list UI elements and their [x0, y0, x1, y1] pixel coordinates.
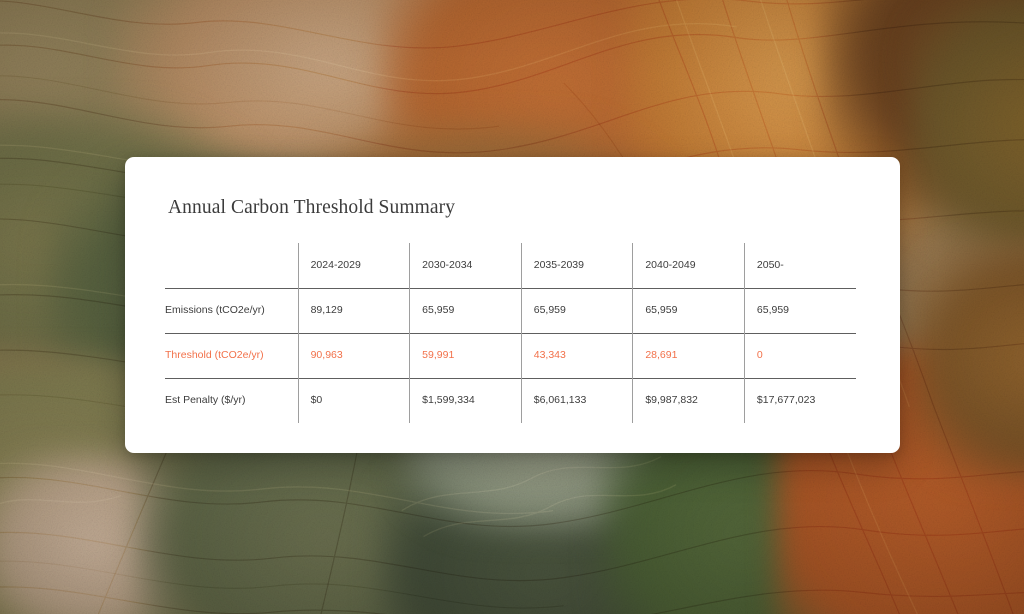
- summary-card: Annual Carbon Threshold Summary 2024-202…: [125, 157, 900, 453]
- cell-emissions-1: 89,129: [298, 288, 410, 333]
- table-row-threshold: Threshold (tCO2e/yr) 90,963 59,991 43,34…: [165, 333, 856, 378]
- table-header-row: 2024-2029 2030-2034 2035-2039 2040-2049 …: [165, 243, 856, 288]
- cell-penalty-3: $6,061,133: [521, 378, 633, 423]
- table-corner-cell: [165, 243, 298, 288]
- cell-emissions-5: 65,959: [744, 288, 856, 333]
- row-label-emissions: Emissions (tCO2e/yr): [165, 288, 298, 333]
- column-header-period-1[interactable]: 2024-2029: [298, 243, 410, 288]
- cell-penalty-2: $1,599,334: [410, 378, 522, 423]
- cell-penalty-1: $0: [298, 378, 410, 423]
- cell-threshold-3: 43,343: [521, 333, 633, 378]
- page-title: Annual Carbon Threshold Summary: [168, 197, 455, 219]
- cell-threshold-5: 0: [744, 333, 856, 378]
- row-label-threshold: Threshold (tCO2e/yr): [165, 333, 298, 378]
- row-label-penalty: Est Penalty ($/yr): [165, 378, 298, 423]
- cell-threshold-1: 90,963: [298, 333, 410, 378]
- cell-threshold-4: 28,691: [633, 333, 745, 378]
- carbon-threshold-table: 2024-2029 2030-2034 2035-2039 2040-2049 …: [165, 243, 856, 423]
- column-header-period-3[interactable]: 2035-2039: [521, 243, 633, 288]
- cell-penalty-5: $17,677,023: [744, 378, 856, 423]
- column-header-period-5[interactable]: 2050-: [744, 243, 856, 288]
- column-header-period-4[interactable]: 2040-2049: [633, 243, 745, 288]
- table-row-penalty: Est Penalty ($/yr) $0 $1,599,334 $6,061,…: [165, 378, 856, 423]
- cell-threshold-2: 59,991: [410, 333, 522, 378]
- cell-penalty-4: $9,987,832: [633, 378, 745, 423]
- column-header-period-2[interactable]: 2030-2034: [410, 243, 522, 288]
- cell-emissions-3: 65,959: [521, 288, 633, 333]
- cell-emissions-2: 65,959: [410, 288, 522, 333]
- cell-emissions-4: 65,959: [633, 288, 745, 333]
- table-row-emissions: Emissions (tCO2e/yr) 89,129 65,959 65,95…: [165, 288, 856, 333]
